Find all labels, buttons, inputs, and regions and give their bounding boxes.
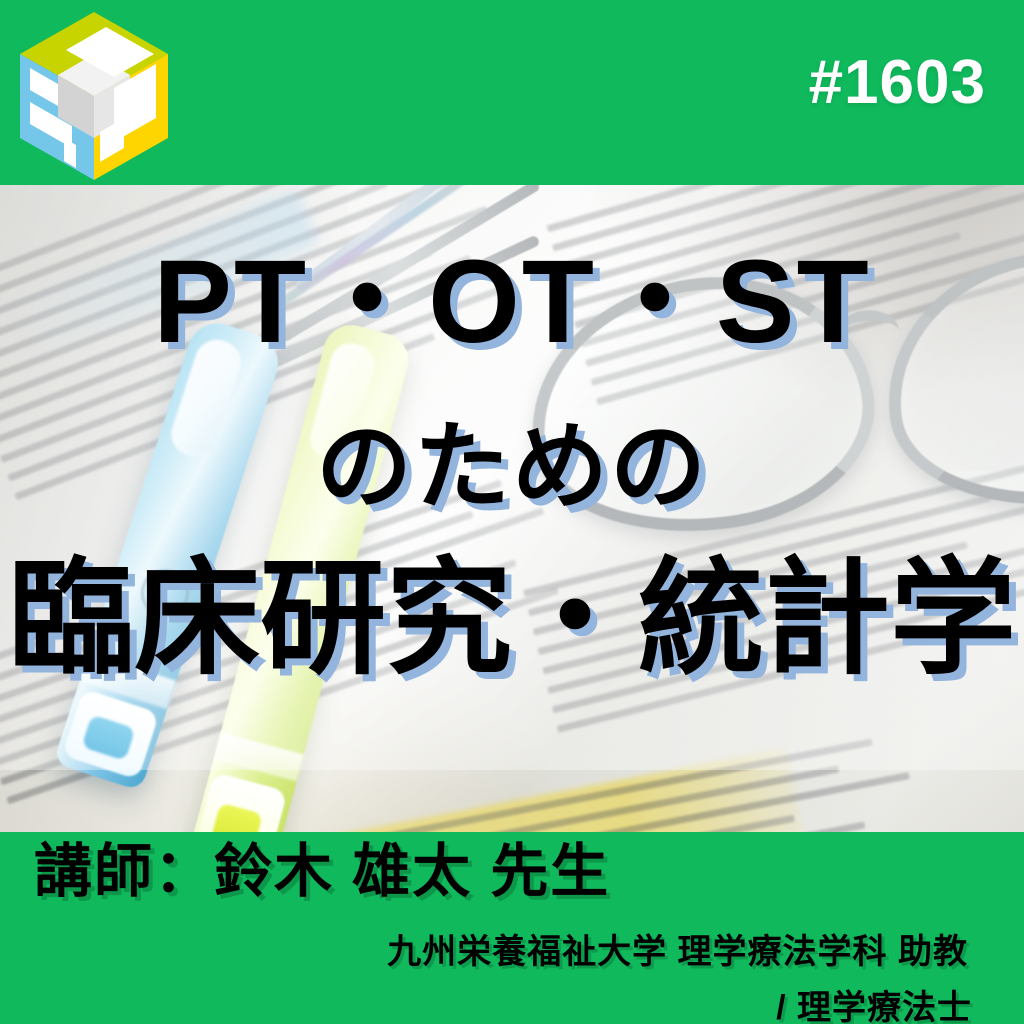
title-line-1: PT・OT・ST [0, 243, 1024, 361]
isometric-cube-icon [14, 8, 174, 184]
logo-container[interactable] [14, 8, 174, 184]
lecturer-license: / 理学療法士 [776, 980, 972, 1024]
title-line-3: 臨床研究・統計学 [0, 556, 1024, 682]
lecturer-name: 講師：鈴木 雄太 先生 [34, 842, 610, 903]
title-line-2: のための [0, 420, 1024, 516]
poster-canvas: #1603 PT・OT・ST のための 臨床研究・統計学 講師：鈴木 雄太 先生… [0, 0, 1024, 1024]
issue-number: #1603 [809, 52, 986, 114]
yellow-pen-collar [213, 732, 303, 781]
lecturer-affiliation: 九州栄養福祉大学 理学療法学科 助教 [387, 924, 968, 973]
footer-bar: 講師：鈴木 雄太 先生 九州栄養福祉大学 理学療法学科 助教 / 理学療法士 [0, 832, 1024, 1024]
